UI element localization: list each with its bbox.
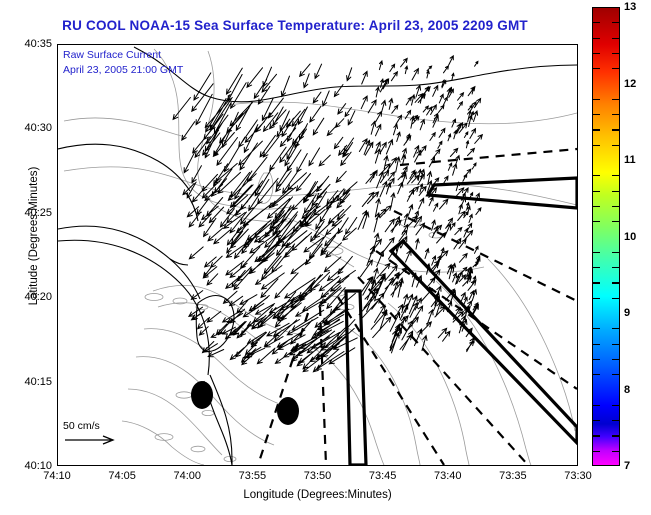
colorbar-minor-tick: [592, 53, 600, 54]
colorbar-minor-tick: [612, 374, 620, 375]
colorbar-minor-tick: [612, 267, 620, 268]
colorbar-tick-label: 9: [624, 307, 630, 319]
colorbar-tick-label: 7: [624, 460, 630, 472]
colorbar-minor-tick: [592, 175, 600, 176]
radar-coverage-wedge-icon: [346, 178, 577, 465]
colorbar-minor-tick: [592, 451, 600, 452]
colorbar-minor-tick: [612, 175, 620, 176]
page-title: RU COOL NOAA-15 Sea Surface Temperature:…: [0, 18, 590, 33]
y-tick-label: 40:10: [24, 460, 52, 472]
colorbar-minor-tick: [592, 298, 600, 299]
x-tick-label: 73:50: [304, 470, 332, 482]
scale-arrow-icon: [63, 432, 119, 446]
annotation-text: Raw Surface Current April 23, 2005 21:00…: [63, 48, 183, 78]
colorbar-minor-tick: [592, 282, 600, 283]
colorbar-minor-tick: [612, 344, 620, 345]
colorbar-minor-tick: [612, 328, 620, 329]
colorbar-tick-label: 13: [624, 1, 636, 13]
colorbar-minor-tick: [592, 374, 600, 375]
colorbar-minor-tick: [612, 435, 620, 436]
colorbar-tick-label: 12: [624, 78, 636, 90]
bathymetry-contours-icon: [64, 49, 577, 465]
annotation-line-1: Raw Surface Current: [63, 48, 183, 63]
map-graphics: [58, 45, 577, 465]
colorbar-tick-label: 10: [624, 231, 636, 243]
x-tick-label: 73:35: [499, 470, 527, 482]
colorbar-tick-label: 11: [624, 154, 636, 166]
x-tick-label: 73:40: [434, 470, 462, 482]
colorbar-minor-tick: [592, 38, 600, 39]
colorbar-minor-tick: [612, 282, 620, 283]
scale-legend-label: 50 cm/s: [63, 420, 119, 432]
colorbar-minor-tick: [612, 129, 620, 130]
colorbar-minor-tick: [592, 206, 600, 207]
colorbar-minor-tick: [612, 99, 620, 100]
colorbar[interactable]: [592, 7, 620, 466]
station-marker-icon: [191, 381, 299, 425]
colorbar-minor-tick: [592, 22, 600, 23]
colorbar-minor-tick: [612, 145, 620, 146]
colorbar-minor-tick: [612, 221, 620, 222]
colorbar-minor-tick: [612, 191, 620, 192]
colorbar-minor-tick: [592, 145, 600, 146]
colorbar-minor-tick: [592, 435, 600, 436]
colorbar-minor-tick: [612, 420, 620, 421]
colorbar-minor-tick: [592, 129, 600, 130]
x-tick-label: 74:00: [173, 470, 201, 482]
colorbar-minor-tick: [612, 405, 620, 406]
coastline-icon: [58, 47, 577, 465]
y-tick-label: 40:15: [24, 376, 52, 388]
x-tick-label: 73:55: [239, 470, 267, 482]
colorbar-minor-tick: [612, 298, 620, 299]
colorbar-minor-tick: [612, 206, 620, 207]
colorbar-minor-tick: [592, 252, 600, 253]
colorbar-minor-tick: [612, 114, 620, 115]
annotation-line-2: April 23, 2005 21:00 GMT: [63, 63, 183, 78]
y-tick-label: 40:35: [24, 38, 52, 50]
colorbar-minor-tick: [592, 328, 600, 329]
colorbar-minor-tick: [592, 191, 600, 192]
colorbar-minor-tick: [612, 38, 620, 39]
colorbar-minor-tick: [592, 68, 600, 69]
colorbar-minor-tick: [592, 114, 600, 115]
colorbar-minor-tick: [592, 359, 600, 360]
colorbar-minor-tick: [592, 405, 600, 406]
y-axis-label: Latitude (Degrees:Minutes): [28, 106, 40, 366]
surface-current-vectors-icon: [173, 56, 482, 372]
current-vector-arrows: [173, 56, 482, 372]
colorbar-tick-label: 8: [624, 384, 630, 396]
colorbar-minor-tick: [592, 420, 600, 421]
colorbar-minor-tick: [612, 451, 620, 452]
x-axis-label: Longitude (Degrees:Minutes): [57, 489, 578, 501]
map-plot-area[interactable]: Raw Surface Current April 23, 2005 21:00…: [57, 44, 578, 466]
colorbar-minor-tick: [612, 252, 620, 253]
x-tick-label: 74:05: [108, 470, 136, 482]
colorbar-minor-tick: [592, 267, 600, 268]
x-tick-label: 73:30: [564, 470, 592, 482]
colorbar-minor-tick: [612, 68, 620, 69]
figure-canvas: RU COOL NOAA-15 Sea Surface Temperature:…: [0, 0, 651, 515]
colorbar-minor-tick: [592, 221, 600, 222]
colorbar-minor-tick: [612, 22, 620, 23]
colorbar-minor-tick: [592, 344, 600, 345]
colorbar-minor-tick: [612, 359, 620, 360]
colorbar-minor-tick: [592, 99, 600, 100]
x-tick-label: 73:45: [369, 470, 397, 482]
scale-legend: 50 cm/s: [63, 420, 119, 451]
colorbar-minor-tick: [612, 53, 620, 54]
